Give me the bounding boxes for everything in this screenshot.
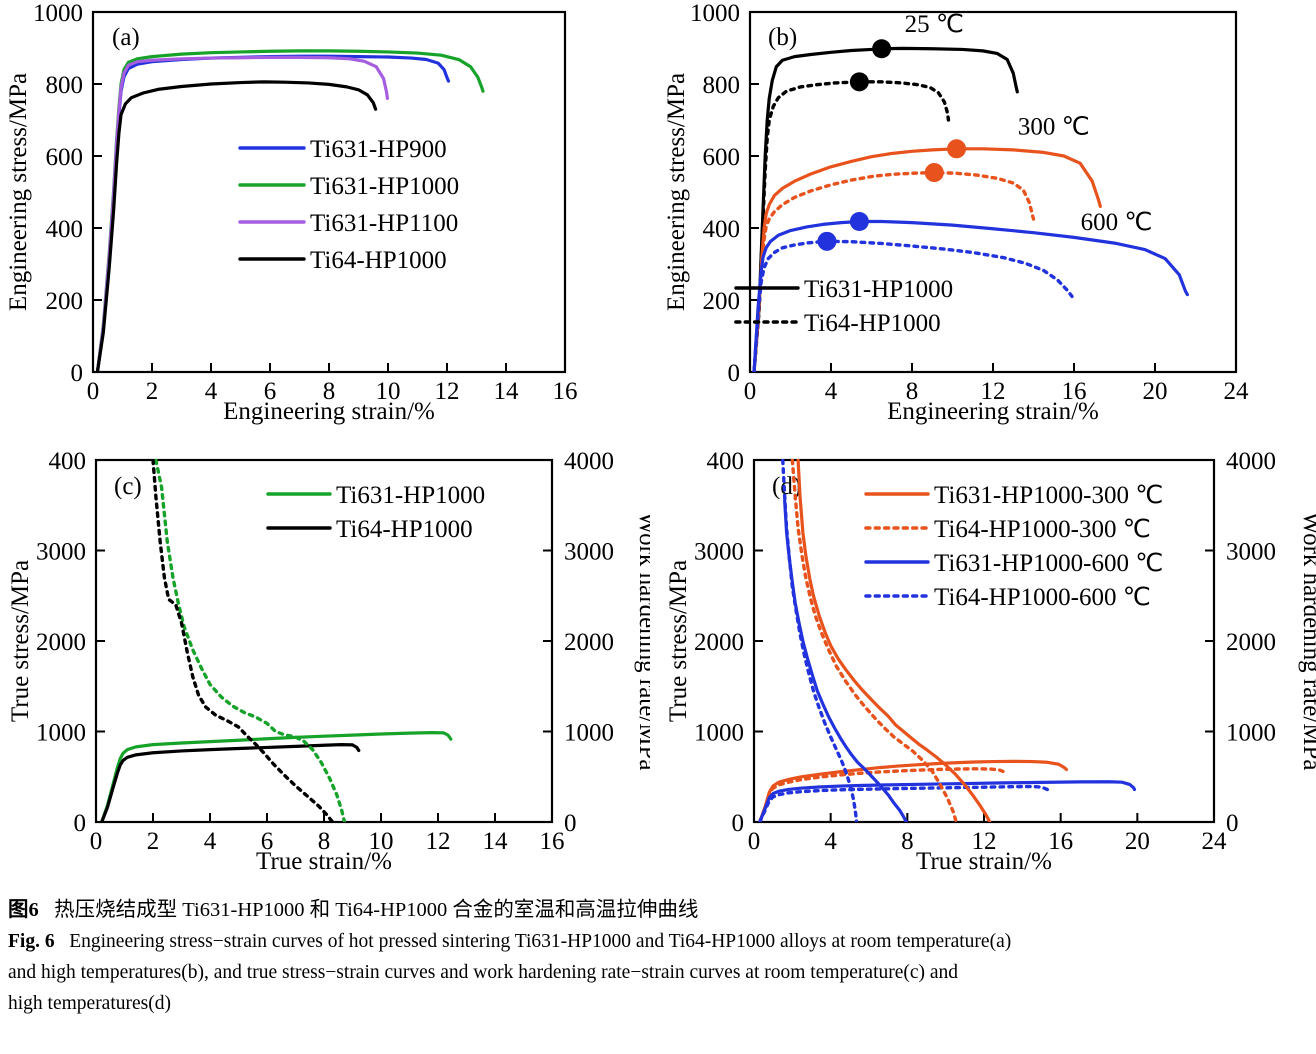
legend-label-d-2[interactable]: Ti631-HP1000-600 ℃: [934, 550, 1163, 577]
caption-line-en-3: high temperatures(d): [8, 988, 1308, 1019]
legend-label-d-3[interactable]: Ti64-HP1000-600 ℃: [934, 584, 1151, 611]
y-tick-label-c-1: 1000: [36, 720, 86, 747]
panel-tag-a: (a): [112, 24, 140, 51]
y-tick-label-right-d-4: 4000: [1226, 448, 1276, 475]
curve-b-3: [754, 173, 1033, 372]
x-tick-label-b-1: 4: [825, 378, 838, 405]
legend-label-c-0[interactable]: Ti631-HP1000: [336, 482, 485, 509]
legend-label-c-1[interactable]: Ti64-HP1000: [336, 516, 473, 543]
panel-tag-c: (c): [114, 473, 142, 500]
y-axis-label-a: Engineering stress/MPa: [5, 73, 32, 311]
legend-label-b-1[interactable]: Ti64-HP1000: [804, 310, 941, 337]
x-tick-label-c-8: 16: [540, 828, 565, 855]
y-tick-label-b-2: 400: [703, 216, 741, 243]
x-tick-label-d-2: 8: [901, 828, 914, 855]
chart-d: 0481216202401000200030004000100020003000…: [658, 432, 1316, 887]
caption-line-en-2: and high temperatures(b), and true stres…: [8, 957, 1308, 988]
curve-c-1: [102, 745, 359, 822]
x-tick-label-c-0: 0: [90, 828, 103, 855]
y-tick-label-a-4: 800: [46, 72, 84, 99]
chart-c: 0246810121416010002000300040001000200030…: [0, 432, 650, 887]
panel-a-engineering-stress-strain-room-temp: 024681012141602004006008001000Engineerin…: [0, 0, 650, 430]
legend-label-d-1[interactable]: Ti64-HP1000-300 ℃: [934, 516, 1151, 543]
panel-c-true-stress-work-hardening-room-temp: 0246810121416010002000300040001000200030…: [0, 432, 650, 887]
x-tick-label-d-0: 0: [748, 828, 761, 855]
curve-c-3: [153, 460, 333, 822]
y-tick-label-b-1: 200: [703, 288, 741, 315]
y-tick-label-right-c-4: 4000: [564, 448, 614, 475]
annotation-b-0: 25 ℃: [905, 11, 964, 38]
panel-tag-b: (b): [768, 24, 797, 51]
y-tick-label-d-4: 400: [707, 448, 745, 475]
legend-label-d-0[interactable]: Ti631-HP1000-300 ℃: [934, 482, 1163, 509]
y-tick-label-d-1: 1000: [694, 720, 744, 747]
y-tick-label-b-0: 0: [728, 360, 741, 387]
y-axis-label-b: Engineering stress/MPa: [663, 73, 690, 311]
y-tick-label-c-3: 3000: [36, 539, 86, 566]
y-tick-label-b-3: 600: [703, 144, 741, 171]
x-tick-label-a-8: 16: [553, 378, 578, 405]
caption-text-zh: 热压烧结成型 Ti631-HP1000 和 Ti64-HP1000 合金的室温和…: [54, 899, 698, 921]
caption-line-en-1: Fig. 6 Engineering stress−strain curves …: [8, 926, 1308, 957]
y-tick-label-right-d-3: 3000: [1226, 539, 1276, 566]
y-tick-label-right-d-0: 0: [1226, 810, 1239, 837]
y-axis-label-d: True stress/MPa: [665, 560, 692, 722]
figure-id-zh: 图6: [8, 899, 39, 921]
caption-text-en-3: high temperatures(d): [8, 993, 171, 1014]
x-axis-label-a: Engineering strain/%: [223, 398, 435, 425]
x-tick-label-a-7: 14: [494, 378, 520, 405]
uts-marker-b-2: [947, 139, 966, 158]
y-tick-label-right-c-1: 1000: [564, 720, 614, 747]
x-tick-label-c-7: 14: [483, 828, 509, 855]
x-tick-label-a-2: 4: [205, 378, 218, 405]
curve-d-7: [783, 460, 857, 822]
figure-caption: 图6 热压烧结成型 Ti631-HP1000 和 Ti64-HP1000 合金的…: [8, 895, 1308, 1019]
x-tick-label-d-1: 4: [824, 828, 837, 855]
y-tick-label-c-0: 0: [74, 810, 87, 837]
legend-label-a-3[interactable]: Ti64-HP1000: [310, 247, 447, 274]
panel-b-engineering-stress-strain-high-temp: 0481216202402004006008001000Engineering …: [658, 0, 1316, 430]
x-tick-label-a-1: 2: [146, 378, 159, 405]
annotation-b-1: 300 ℃: [1018, 113, 1090, 140]
y-tick-label-a-5: 1000: [33, 0, 83, 27]
y-tick-label-right-d-1: 1000: [1226, 720, 1276, 747]
uts-marker-b-1: [850, 72, 869, 91]
x-tick-label-d-6: 24: [1202, 828, 1228, 855]
y-tick-label-right-c-0: 0: [564, 810, 577, 837]
legend-label-a-2[interactable]: Ti631-HP1100: [310, 210, 458, 237]
legend-label-a-0[interactable]: Ti631-HP900: [310, 136, 447, 163]
legend-label-b-0[interactable]: Ti631-HP1000: [804, 276, 953, 303]
curve-b-5: [754, 241, 1072, 372]
uts-marker-b-4: [850, 212, 869, 231]
x-tick-label-c-6: 12: [426, 828, 451, 855]
y-tick-label-c-2: 2000: [36, 629, 86, 656]
annotation-b-2: 600 ℃: [1081, 209, 1153, 236]
y-tick-label-c-4: 400: [49, 448, 87, 475]
x-tick-label-c-2: 4: [204, 828, 217, 855]
chart-a: 024681012141602004006008001000Engineerin…: [0, 0, 650, 430]
y-tick-label-d-2: 2000: [694, 629, 744, 656]
y-tick-label-b-5: 1000: [690, 0, 740, 27]
x-tick-label-b-6: 24: [1224, 378, 1250, 405]
x-tick-label-a-0: 0: [87, 378, 100, 405]
x-tick-label-b-0: 0: [744, 378, 757, 405]
x-tick-label-b-5: 20: [1143, 378, 1168, 405]
legend-label-a-1[interactable]: Ti631-HP1000: [310, 173, 459, 200]
y-tick-label-d-0: 0: [732, 810, 745, 837]
y-axis-label-c: True stress/MPa: [7, 560, 34, 722]
caption-line-zh: 图6 热压烧结成型 Ti631-HP1000 和 Ti64-HP1000 合金的…: [8, 895, 1308, 926]
y-tick-label-b-4: 800: [703, 72, 741, 99]
y-axis-label-right-d: Work hardening rate/MPa: [1298, 511, 1316, 770]
y-tick-label-right-c-2: 2000: [564, 629, 614, 656]
x-tick-label-c-1: 2: [147, 828, 160, 855]
plot-area-d: [760, 460, 1135, 822]
x-tick-label-d-5: 20: [1125, 828, 1150, 855]
x-tick-label-a-6: 12: [435, 378, 460, 405]
y-tick-label-a-1: 200: [46, 288, 84, 315]
figure-id-en: Fig. 6: [8, 931, 55, 952]
x-axis-label-b: Engineering strain/%: [887, 398, 1099, 425]
uts-marker-b-5: [817, 232, 836, 251]
y-tick-label-a-0: 0: [71, 360, 84, 387]
uts-marker-b-3: [925, 163, 944, 182]
curve-b-2: [754, 149, 1100, 372]
plot-area-c: [102, 460, 451, 822]
y-tick-label-d-3: 3000: [694, 539, 744, 566]
uts-marker-b-0: [872, 39, 891, 58]
panel-d-true-stress-work-hardening-high-temp: 0481216202401000200030004000100020003000…: [658, 432, 1316, 887]
caption-text-en-1: Engineering stress−strain curves of hot …: [69, 931, 1011, 952]
y-tick-label-right-d-2: 2000: [1226, 629, 1276, 656]
caption-text-en-2: and high temperatures(b), and true stres…: [8, 962, 958, 983]
y-tick-label-a-2: 400: [46, 216, 84, 243]
chart-b: 0481216202402004006008001000Engineering …: [658, 0, 1316, 430]
y-tick-label-right-c-3: 3000: [564, 539, 614, 566]
figure-6: 024681012141602004006008001000Engineerin…: [0, 0, 1316, 1054]
x-axis-label-d: True strain/%: [916, 848, 1052, 875]
x-axis-label-c: True strain/%: [256, 848, 392, 875]
y-tick-label-a-3: 600: [46, 144, 84, 171]
y-axis-label-right-c: Work hardening rate/MPa: [634, 511, 650, 770]
